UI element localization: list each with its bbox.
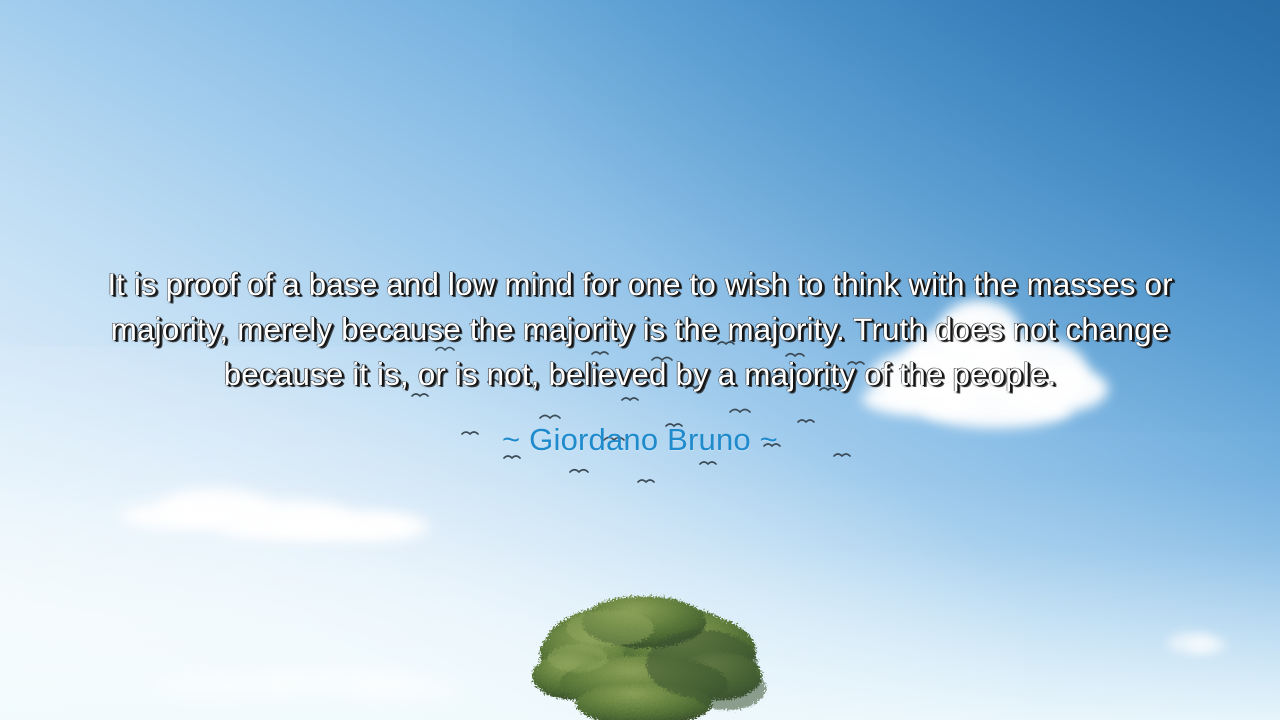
quote-block: It is proof of a base and low mind for o… <box>0 262 1280 459</box>
quote-image-canvas: It is proof of a base and low mind for o… <box>0 0 1280 720</box>
quote-text: It is proof of a base and low mind for o… <box>96 262 1184 397</box>
sky-bottom-haze <box>0 475 1280 720</box>
quote-author: ~ Giordano Bruno ~ <box>96 421 1184 459</box>
